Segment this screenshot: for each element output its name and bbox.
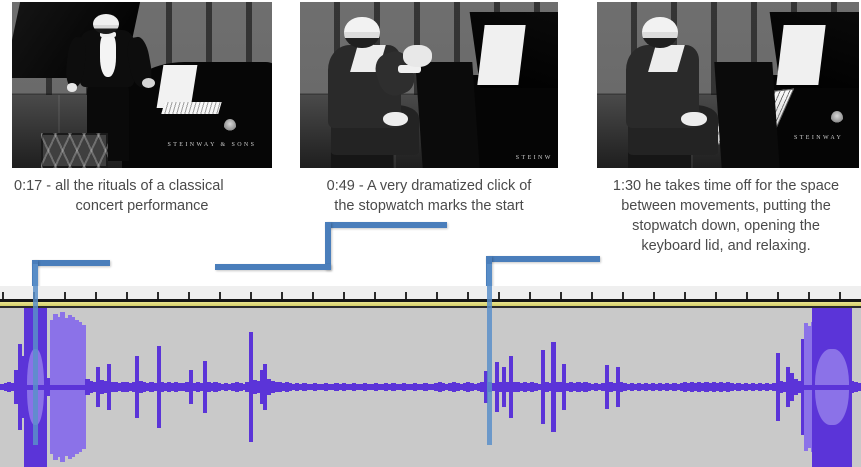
ruler-tick bbox=[684, 292, 686, 299]
ruler-tick bbox=[126, 292, 128, 299]
ruler-tick bbox=[436, 292, 438, 299]
ruler-tick bbox=[405, 292, 407, 299]
ruler-tick bbox=[777, 292, 779, 299]
ruler-tick bbox=[653, 292, 655, 299]
ruler-tick bbox=[715, 292, 717, 299]
music-desk bbox=[477, 25, 526, 85]
caption-1-30-line-4: keyboard lid, and relaxing. bbox=[592, 236, 860, 256]
caption-0-49-line-1: 0:49 - A very dramatized click of bbox=[296, 176, 562, 196]
ruler-tick bbox=[312, 292, 314, 299]
ruler-tick bbox=[839, 292, 841, 299]
caption-0-17: 0:17 - all the rituals of a classical co… bbox=[8, 176, 276, 216]
steinway-crest-icon bbox=[831, 111, 843, 125]
caption-0-17-line-2: concert performance bbox=[8, 196, 276, 216]
steinway-crest-icon bbox=[224, 119, 236, 133]
caption-1-30-line-1: 1:30 he takes time off for the space bbox=[592, 176, 860, 196]
ruler-tick bbox=[529, 292, 531, 299]
playhead-marker-start[interactable] bbox=[33, 264, 38, 445]
video-frame-strip: STEINWAY & SONS bbox=[0, 0, 861, 168]
callout-line-1-30-horizontal-top bbox=[486, 256, 600, 262]
ruler-tick bbox=[64, 292, 66, 299]
photo-pianist-stopwatch: STEINW bbox=[300, 2, 558, 168]
ruler-tick bbox=[157, 292, 159, 299]
video-frame-1-30[interactable]: STEINWAY bbox=[597, 2, 859, 168]
ruler-tick bbox=[95, 292, 97, 299]
waveform-zero-line bbox=[0, 385, 861, 390]
piano-front-panel bbox=[714, 62, 779, 168]
ruler-tick bbox=[746, 292, 748, 299]
pianist-hands-on-keys bbox=[681, 112, 707, 127]
caption-0-49-line-2: the stopwatch marks the start bbox=[296, 196, 562, 216]
ruler-tick bbox=[219, 292, 221, 299]
ruler-tick bbox=[498, 292, 500, 299]
ruler-tick bbox=[188, 292, 190, 299]
waveform-display[interactable] bbox=[0, 308, 861, 467]
music-desk bbox=[777, 25, 826, 85]
slide-canvas: STEINWAY & SONS bbox=[0, 0, 861, 467]
playhead-marker-mid[interactable] bbox=[487, 264, 492, 445]
steinway-wordmark: STEINWAY & SONS bbox=[168, 142, 257, 148]
ruler-tick bbox=[281, 292, 283, 299]
ruler-tick bbox=[591, 292, 593, 299]
video-frame-0-49[interactable]: STEINW bbox=[300, 2, 558, 168]
pianist-head bbox=[344, 17, 380, 49]
video-frame-0-17[interactable]: STEINWAY & SONS bbox=[12, 2, 272, 168]
ruler-tick bbox=[467, 292, 469, 299]
piano-front-panel bbox=[415, 62, 479, 168]
bench-tufting bbox=[41, 133, 109, 168]
piano-keys bbox=[161, 102, 222, 114]
pianist-shirt bbox=[100, 34, 116, 77]
ruler-tick bbox=[2, 292, 4, 299]
photo-standing-pianist: STEINWAY & SONS bbox=[12, 2, 272, 168]
ruler-tick bbox=[808, 292, 810, 299]
pianist-head bbox=[93, 14, 119, 34]
caption-1-30-line-2: between movements, putting the bbox=[592, 196, 860, 216]
ruler-tick bbox=[343, 292, 345, 299]
callout-line-0-49-horizontal-bottom bbox=[215, 264, 331, 270]
steinway-wordmark: STEINWAY bbox=[794, 135, 843, 141]
timeline-ruler[interactable] bbox=[0, 286, 861, 299]
steinway-wordmark: STEINW bbox=[516, 155, 553, 161]
pianist-fist-stopwatch bbox=[403, 45, 431, 67]
callout-line-0-49-vertical bbox=[325, 222, 331, 270]
caption-1-30: 1:30 he takes time off for the space bet… bbox=[592, 176, 860, 256]
callout-line-0-17-horizontal bbox=[32, 260, 110, 266]
ruler-tick bbox=[560, 292, 562, 299]
caption-0-17-line-1: 0:17 - all the rituals of a classical bbox=[8, 176, 276, 196]
audio-waveform-track[interactable] bbox=[0, 286, 861, 467]
caption-0-49: 0:49 - A very dramatized click of the st… bbox=[296, 176, 562, 216]
ruler-tick bbox=[622, 292, 624, 299]
pianist-left-hand bbox=[67, 83, 77, 91]
caption-1-30-line-3: stopwatch down, opening the bbox=[592, 216, 860, 236]
callout-line-0-49-horizontal-top bbox=[325, 222, 447, 228]
photo-pianist-at-keys: STEINWAY bbox=[597, 2, 859, 168]
piano-bench bbox=[41, 133, 109, 168]
ruler-tick bbox=[250, 292, 252, 299]
ruler-tick bbox=[374, 292, 376, 299]
ruler-tick-marks bbox=[0, 291, 861, 299]
